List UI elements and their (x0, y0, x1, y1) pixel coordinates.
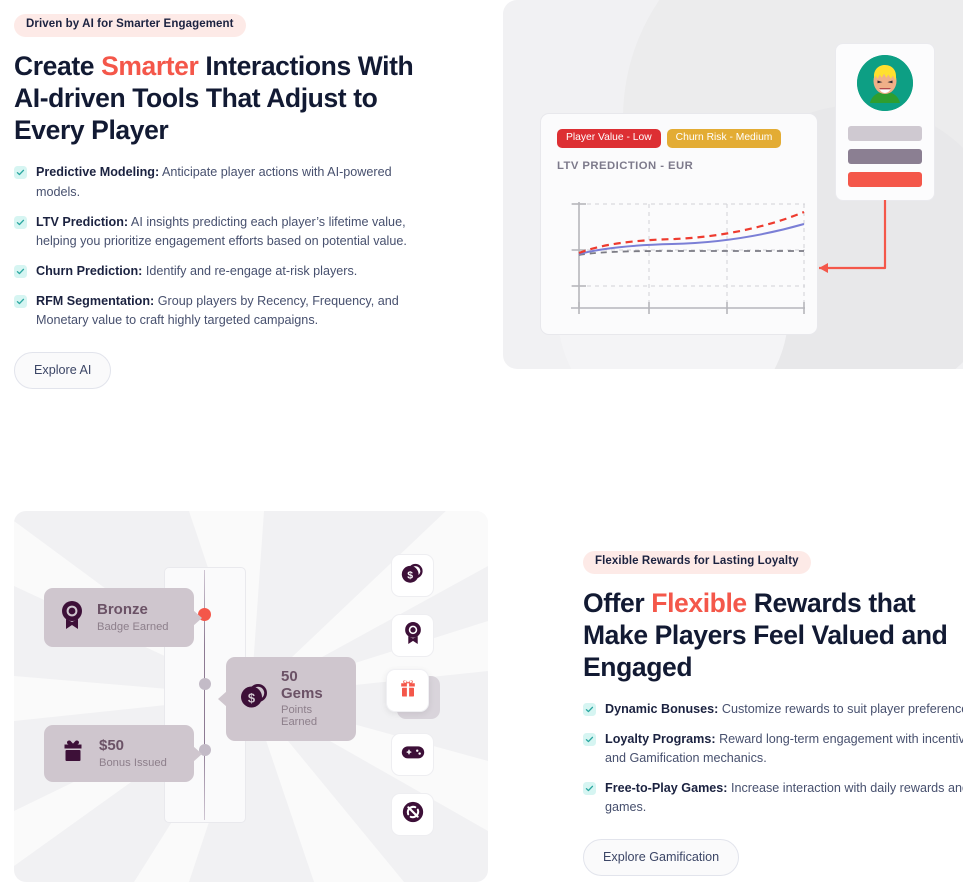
reward-bubble-bonus[interactable]: $50 Bonus Issued (44, 725, 194, 782)
gam-headline-highlight: Flexible (651, 588, 746, 618)
list-item-term: Free-to-Play Games: (605, 781, 727, 795)
medal-icon (402, 621, 424, 650)
info-bar (848, 149, 922, 164)
ai-visual-panel: Player Value - Low Churn Risk - Medium L… (503, 0, 963, 369)
avatar-illustration (857, 55, 913, 111)
check-icon (583, 703, 596, 716)
list-item-text: Free-to-Play Games: Increase interaction… (605, 779, 963, 817)
list-item-desc: Customize rewards to suit player prefere… (718, 702, 963, 716)
gamification-eyebrow-badge: Flexible Rewards for Lasting Loyalty (583, 551, 811, 574)
list-item-text: Churn Prediction: Identify and re-engage… (36, 262, 357, 281)
bubble-tail (218, 691, 227, 707)
ai-eyebrow-badge: Driven by AI for Smarter Engagement (14, 14, 246, 37)
reward-subtitle: Bonus Issued (99, 757, 167, 769)
list-item-term: Churn Prediction: (36, 264, 142, 278)
status-badge-player-value: Player Value - Low (557, 129, 661, 148)
gamification-headline: Offer Flexible Rewards that Make Players… (583, 587, 963, 684)
check-icon (14, 265, 27, 278)
gamepad-icon (401, 743, 425, 766)
check-icon (583, 733, 596, 746)
ltv-prediction-card: Player Value - Low Churn Risk - Medium L… (540, 113, 818, 335)
list-item-text: Loyalty Programs: Reward long-term engag… (605, 730, 963, 768)
info-bar (848, 126, 922, 141)
reward-subtitle: Badge Earned (97, 621, 169, 633)
ai-headline: Create Smarter Interactions With AI-driv… (14, 50, 432, 147)
gift-icon (396, 677, 420, 705)
coins-icon: $ (240, 682, 270, 715)
ai-feature-list: Predictive Modeling: Anticipate player a… (14, 163, 432, 330)
coins-icon: $ (401, 562, 425, 590)
gamification-feature-list: Dynamic Bonuses: Customize rewards to su… (583, 700, 963, 816)
avatar (857, 55, 913, 111)
ai-section-text: Driven by AI for Smarter Engagement Crea… (14, 14, 432, 389)
list-item-term: RFM Segmentation: (36, 294, 154, 308)
reward-title: 50 Gems (281, 669, 342, 702)
bubble-tail (193, 746, 202, 762)
check-icon (583, 782, 596, 795)
reward-title: Bronze (97, 602, 169, 619)
ltv-line-chart (557, 198, 807, 320)
list-item-term: LTV Prediction: (36, 215, 128, 229)
list-item-desc: Identify and re-engage at-risk players. (142, 264, 357, 278)
reward-tile-coins[interactable]: $ (391, 554, 434, 597)
chart-title: LTV PREDICTION - EUR (557, 160, 801, 172)
list-item-term: Loyalty Programs: (605, 732, 716, 746)
explore-ai-button[interactable]: Explore AI (14, 352, 111, 389)
svg-text:$: $ (248, 691, 256, 706)
gam-headline-part1: Offer (583, 588, 651, 618)
reward-bubble-text: 50 Gems Points Earned (281, 669, 342, 729)
page-root: Driven by AI for Smarter Engagement Crea… (0, 0, 963, 882)
check-icon (14, 295, 27, 308)
reward-tile-badge[interactable] (391, 614, 434, 657)
connector-arrow (803, 198, 918, 283)
reward-subtitle: Points Earned (281, 704, 342, 729)
gamification-section-text: Flexible Rewards for Lasting Loyalty Off… (583, 551, 963, 876)
bubble-tail (193, 610, 202, 626)
list-item-text: LTV Prediction: AI insights predicting e… (36, 213, 432, 251)
reward-bubble-text: Bronze Badge Earned (97, 602, 169, 633)
list-item: Dynamic Bonuses: Customize rewards to su… (583, 700, 963, 719)
list-item: Predictive Modeling: Anticipate player a… (14, 163, 432, 201)
explore-gamification-button[interactable]: Explore Gamification (583, 839, 739, 876)
reward-tile-refresh[interactable] (391, 793, 434, 836)
gift-icon (58, 737, 88, 770)
reward-bubble-bronze[interactable]: Bronze Badge Earned (44, 588, 194, 647)
list-item-term: Dynamic Bonuses: (605, 702, 718, 716)
list-item: Free-to-Play Games: Increase interaction… (583, 779, 963, 817)
reward-bubble-text: $50 Bonus Issued (99, 738, 167, 769)
list-item: RFM Segmentation: Group players by Recen… (14, 292, 432, 330)
status-badge-churn-risk: Churn Risk - Medium (667, 129, 782, 148)
ai-headline-part1: Create (14, 51, 101, 81)
list-item: LTV Prediction: AI insights predicting e… (14, 213, 432, 251)
medal-icon (58, 600, 86, 635)
list-item-text: Dynamic Bonuses: Customize rewards to su… (605, 700, 963, 719)
player-avatar-card (835, 43, 935, 201)
reward-tile-gift[interactable] (386, 669, 429, 712)
reward-bubble-gems[interactable]: $ 50 Gems Points Earned (226, 657, 356, 741)
ai-headline-highlight: Smarter (101, 51, 198, 81)
list-item: Churn Prediction: Identify and re-engage… (14, 262, 432, 281)
chart-svg (557, 198, 807, 320)
list-item-term: Predictive Modeling: (36, 165, 159, 179)
info-bar-highlight (848, 172, 922, 187)
connector-arrow-svg (803, 198, 918, 278)
list-item: Loyalty Programs: Reward long-term engag… (583, 730, 963, 768)
timeline-dot[interactable] (199, 678, 211, 690)
list-item-text: Predictive Modeling: Anticipate player a… (36, 163, 432, 201)
reward-tile-games[interactable] (391, 733, 434, 776)
no-money-icon (401, 800, 425, 829)
status-badge-group: Player Value - Low Churn Risk - Medium (557, 129, 801, 148)
reward-title: $50 (99, 738, 167, 755)
check-icon (14, 216, 27, 229)
svg-text:$: $ (407, 570, 413, 581)
list-item-text: RFM Segmentation: Group players by Recen… (36, 292, 432, 330)
check-icon (14, 166, 27, 179)
